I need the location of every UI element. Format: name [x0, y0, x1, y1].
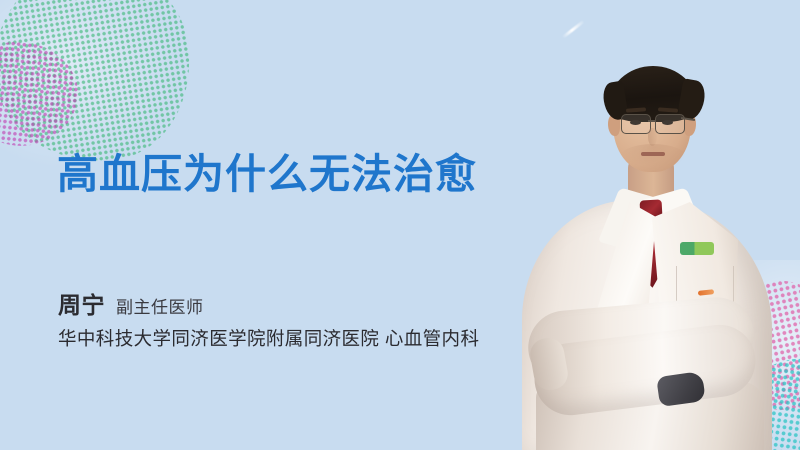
speaker-credit-line-1: 周宁 副主任医师 — [58, 286, 479, 320]
mouth — [641, 152, 665, 156]
jaw-shading — [618, 144, 688, 174]
glasses-lens-left — [621, 114, 651, 134]
glasses-bridge — [648, 120, 656, 122]
green-dot-blob — [0, 0, 190, 162]
page-title: 高血压为什么无法治愈 — [57, 152, 477, 196]
white-streak-icon — [562, 20, 584, 38]
background-wash-left — [0, 0, 180, 170]
magenta-dot-blob — [0, 42, 78, 146]
speaker-credit: 周宁 副主任医师 华中科技大学同济医学院附属同济医院 心血管内科 — [58, 286, 479, 351]
doctor-rank: 副主任医师 — [116, 293, 204, 318]
nose — [648, 128, 657, 146]
doctor-affiliation: 华中科技大学同济医学院附属同济医院 心血管内科 — [58, 325, 479, 351]
doctor-portrait — [500, 52, 800, 450]
doctor-name: 周宁 — [58, 286, 105, 320]
hospital-logo-icon — [680, 242, 714, 255]
video-thumbnail-slide: 高血压为什么无法治愈 周宁 副主任医师 华中科技大学同济医学院附属同济医院 心血… — [0, 0, 800, 450]
